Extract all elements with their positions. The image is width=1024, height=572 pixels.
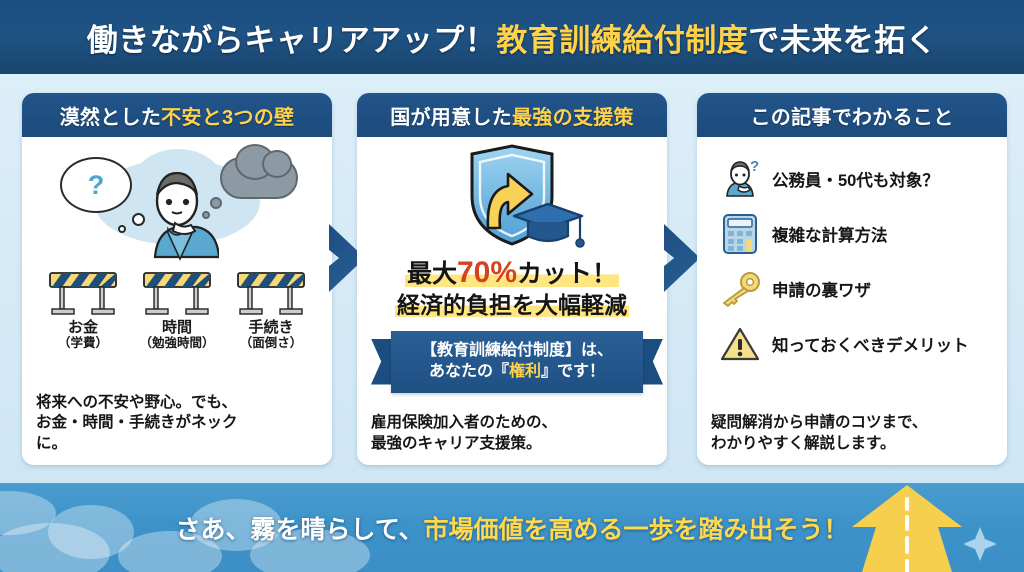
footer-line: 疑問解消から申請のコツまで、 — [711, 413, 997, 434]
ribbon-line-2-highlight: 権利 — [509, 363, 541, 380]
ribbon-body: 【教育訓練給付制度】は、 あなたの『権利』です！ — [391, 331, 643, 393]
panel-problem-header-text: 漠然とした不安と3つの壁 — [60, 101, 295, 130]
shield-graduation-icon — [436, 144, 588, 250]
thought-dot-small-icon — [118, 225, 126, 233]
barrier-label: 時間 — [133, 319, 221, 336]
barrier-sublabel: （学費） — [39, 336, 127, 351]
thinking-person-icon — [135, 161, 219, 261]
barrier-item: 時間 （勉強時間） — [133, 269, 221, 351]
rights-ribbon-banner: 【教育訓練給付制度】は、 あなたの『権利』です！ — [371, 331, 663, 393]
barrier-label: お金 — [39, 319, 127, 336]
panel-solution-header-plain: 国が用意した — [390, 107, 512, 129]
barrier-icon — [138, 269, 216, 317]
panel-solution-header-highlight: 最強の支援策 — [512, 107, 634, 129]
barrier-sublabel: （面倒さ） — [227, 336, 315, 351]
page-title-highlight: 教育訓練給付制度 — [496, 23, 748, 58]
panel-problem-footer: 将来への不安や野心。でも、 お金・時間・手続きがネック に。 — [36, 393, 322, 455]
footer-line: 雇用保険加入者のための、 — [371, 413, 657, 434]
panel-solution-header: 国が用意した最強の支援策 — [357, 93, 667, 137]
discount-subheadline: 経済的負担を大幅軽減 — [371, 292, 653, 319]
person-question-icon: ? — [719, 158, 761, 200]
barrier-sublabel: （勉強時間） — [133, 336, 221, 351]
panel-solution: 国が用意した最強の支援策 最大70%カット！ — [357, 93, 667, 465]
calculator-icon — [719, 213, 761, 255]
panel-contents-header: この記事でわかること — [697, 93, 1007, 137]
page-title-part-1: 働きながらキャリアアップ！ — [87, 23, 497, 58]
bottom-cta-highlight: 市場価値を高める一歩を踏み出そう！ — [424, 516, 849, 544]
panel-contents: この記事でわかること ? 公務員・50代も対象？ — [697, 93, 1007, 465]
bottom-cta-plain: さあ、霧を晴らして、 — [175, 516, 423, 544]
panel-solution-footer: 雇用保険加入者のための、 最強のキャリア支援策。 — [371, 413, 657, 455]
list-item: 申請の裏ワザ — [711, 261, 993, 316]
thinking-person-illustration: ? — [36, 143, 318, 265]
list-item: 複雑な計算方法 — [711, 206, 993, 261]
panel-contents-body: ? 公務員・50代も対象？ — [697, 137, 1007, 465]
svg-text:?: ? — [750, 159, 759, 175]
panel-contents-footer: 疑問解消から申請のコツまで、 わかりやすく解説します。 — [711, 413, 997, 455]
panel-problem-header-highlight: 不安と3つの壁 — [161, 107, 294, 129]
ribbon-line-2: あなたの『権利』です！ — [429, 362, 605, 383]
shield-illustration — [371, 141, 653, 253]
barrier-item: 手続き （面倒さ） — [227, 269, 315, 351]
page-title: 働きながらキャリアアップ！教育訓練給付制度で未来を拓く — [87, 15, 938, 60]
footer-line: 将来への不安や野心。でも、 — [36, 393, 322, 414]
panel-problem-body: ? — [22, 137, 332, 465]
list-item-label: 公務員・50代も対象？ — [772, 167, 939, 191]
ribbon-line-2-pre: あなたの『 — [429, 363, 509, 380]
footer-line: に。 — [36, 434, 322, 455]
list-item-label: 申請の裏ワザ — [772, 277, 871, 301]
list-item: ? 公務員・50代も対象？ — [711, 151, 993, 206]
question-mark-symbol: ? — [88, 170, 105, 201]
key-icon — [719, 268, 761, 310]
barrier-list: お金 （学費） 時間 （勉強時間） — [36, 269, 318, 351]
dark-cloud-icon — [220, 157, 298, 199]
article-contents-list: ? 公務員・50代も対象？ — [711, 151, 993, 371]
panel-solution-header-text: 国が用意した最強の支援策 — [390, 101, 634, 130]
list-item-label: 複雑な計算方法 — [772, 222, 888, 246]
panel-problem: 漠然とした不安と3つの壁 ? — [22, 93, 332, 465]
page-header-bar: 働きながらキャリアアップ！教育訓練給付制度で未来を拓く — [0, 0, 1024, 74]
discount-subheadline-text: 経済的負担を大幅軽減 — [395, 292, 629, 318]
barrier-item: お金 （学費） — [39, 269, 127, 351]
bottom-cta-text: さあ、霧を晴らして、市場価値を高める一歩を踏み出そう！ — [0, 510, 1024, 546]
barrier-label: 手続き — [227, 319, 315, 336]
footer-line: お金・時間・手続きがネック — [36, 413, 322, 434]
question-thought-bubble-icon: ? — [60, 157, 132, 213]
discount-percent: 70% — [457, 256, 517, 289]
footer-line: 最強のキャリア支援策。 — [371, 434, 657, 455]
panel-solution-body: 最大70%カット！ 経済的負担を大幅軽減 【教育訓練給付制度】は、 あなたの『権… — [357, 137, 667, 465]
page-title-part-2: で未来を拓く — [748, 23, 937, 58]
barrier-icon — [232, 269, 310, 317]
ribbon-line-1: 【教育訓練給付制度】は、 — [421, 341, 613, 362]
ribbon-line-2-post: 』です！ — [541, 363, 605, 380]
panel-contents-header-text: この記事でわかること — [751, 101, 954, 130]
bottom-cta-banner: さあ、霧を晴らして、市場価値を高める一歩を踏み出そう！ — [0, 483, 1024, 572]
panel-problem-header: 漠然とした不安と3つの壁 — [22, 93, 332, 137]
discount-suffix: カット！ — [517, 260, 617, 288]
discount-headline: 最大70%カット！ — [371, 255, 653, 290]
footer-line: わかりやすく解説します。 — [711, 434, 997, 455]
barrier-icon — [44, 269, 122, 317]
warning-triangle-icon — [719, 323, 761, 365]
list-item-label: 知っておくべきデメリット — [772, 332, 969, 356]
list-item: 知っておくべきデメリット — [711, 316, 993, 371]
panel-problem-header-plain: 漠然とした — [60, 107, 162, 129]
discount-prefix: 最大 — [407, 260, 457, 288]
